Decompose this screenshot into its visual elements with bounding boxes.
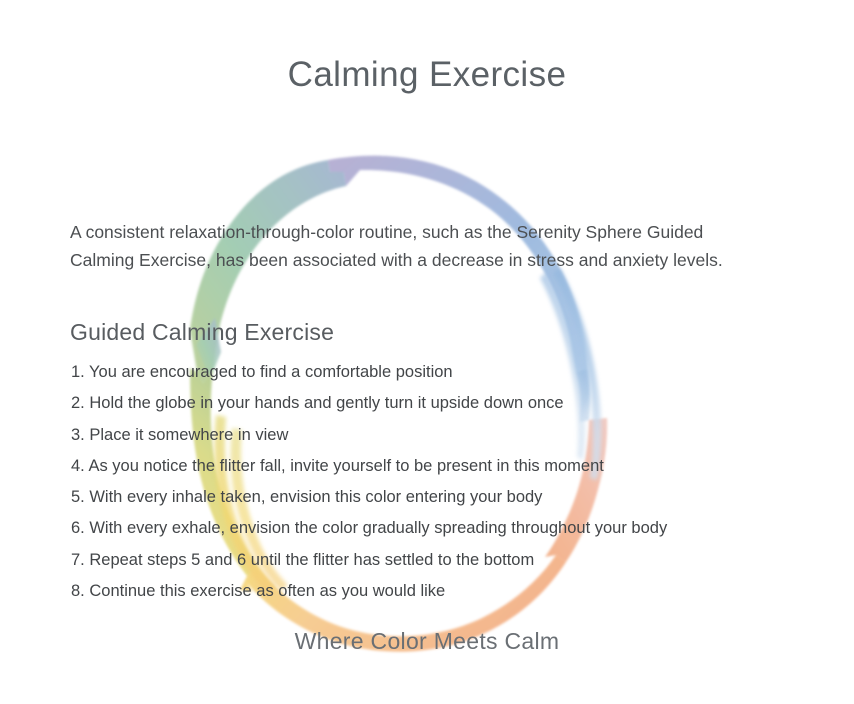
tagline: Where Color Meets Calm bbox=[0, 628, 854, 655]
calming-exercise-page: Calming Exercise A consistent relaxation… bbox=[0, 0, 854, 704]
step-text: As you notice the flitter fall, invite y… bbox=[88, 457, 603, 475]
step-text: You are encouraged to find a comfortable… bbox=[89, 363, 453, 381]
list-item: 4. As you notice the flitter fall, invit… bbox=[71, 451, 811, 482]
list-item: 6. With every exhale, envision the color… bbox=[71, 513, 811, 544]
step-number: 7. bbox=[71, 551, 89, 569]
page-title: Calming Exercise bbox=[0, 55, 854, 95]
step-number: 1. bbox=[71, 363, 89, 381]
steps-list: 1. You are encouraged to find a comforta… bbox=[71, 357, 811, 607]
section-heading: Guided Calming Exercise bbox=[70, 319, 334, 346]
content-layer: Calming Exercise A consistent relaxation… bbox=[0, 0, 854, 704]
step-number: 3. bbox=[71, 426, 89, 444]
list-item: 5. With every inhale taken, envision thi… bbox=[71, 482, 811, 513]
list-item: 3. Place it somewhere in view bbox=[71, 420, 811, 451]
step-text: Place it somewhere in view bbox=[89, 426, 288, 444]
step-number: 4. bbox=[71, 457, 88, 475]
step-text: With every exhale, envision the color gr… bbox=[89, 519, 667, 537]
step-number: 2. bbox=[71, 394, 89, 412]
step-number: 5. bbox=[71, 488, 89, 506]
step-text: Repeat steps 5 and 6 until the flitter h… bbox=[89, 551, 534, 569]
step-number: 8. bbox=[71, 582, 89, 600]
intro-paragraph: A consistent relaxation-through-color ro… bbox=[70, 218, 770, 274]
list-item: 2. Hold the globe in your hands and gent… bbox=[71, 388, 811, 419]
step-text: Continue this exercise as often as you w… bbox=[89, 582, 445, 600]
list-item: 8. Continue this exercise as often as yo… bbox=[71, 576, 811, 607]
list-item: 1. You are encouraged to find a comforta… bbox=[71, 357, 811, 388]
step-text: Hold the globe in your hands and gently … bbox=[89, 394, 563, 412]
list-item: 7. Repeat steps 5 and 6 until the flitte… bbox=[71, 545, 811, 576]
step-text: With every inhale taken, envision this c… bbox=[89, 488, 542, 506]
step-number: 6. bbox=[71, 519, 89, 537]
